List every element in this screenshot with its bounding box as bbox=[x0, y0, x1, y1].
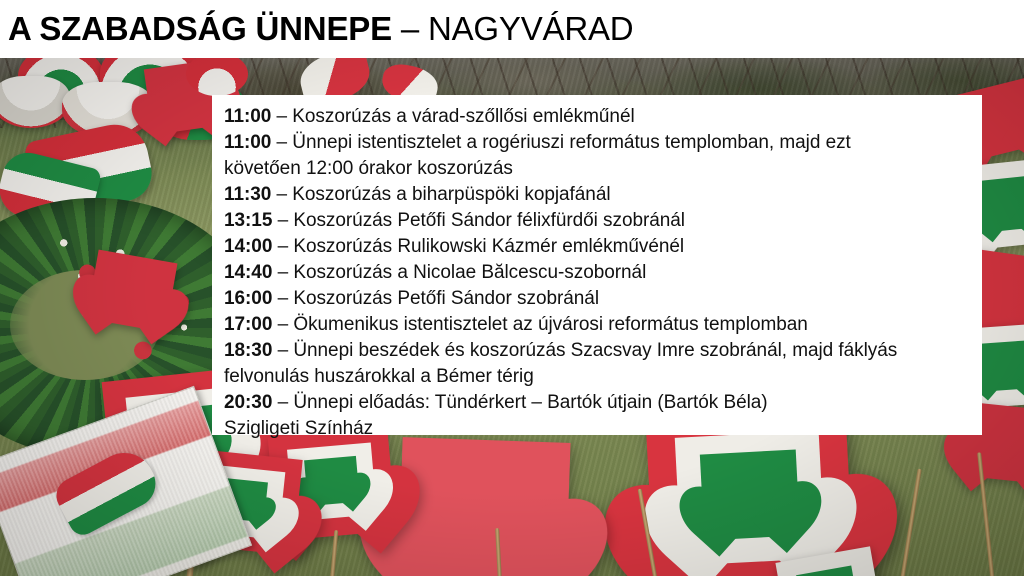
program-text: követően 12:00 órakor koszorúzás bbox=[224, 158, 513, 179]
program-text: Koszorúzás a Nicolae Bălcescu-szobornál bbox=[293, 262, 646, 283]
program-line-continuation: követően 12:00 órakor koszorúzás bbox=[224, 156, 968, 182]
program-text: felvonulás huszárokkal a Bémer térig bbox=[224, 366, 534, 387]
program-line: 17:00 – Ökumenikus istentisztelet az újv… bbox=[224, 312, 968, 338]
program-dash: – bbox=[271, 106, 292, 127]
program-time: 11:30 bbox=[224, 184, 271, 205]
program-text: Koszorúzás Petőfi Sándor szobránál bbox=[293, 288, 599, 309]
program-dash: – bbox=[272, 314, 293, 335]
program-time: 14:00 bbox=[224, 236, 272, 257]
program-dash: – bbox=[272, 340, 293, 361]
program-line: 11:00 – Koszorúzás a várad-szőllősi emlé… bbox=[224, 104, 968, 130]
program-text: Ünnepi beszédek és koszorúzás Szacsvay I… bbox=[293, 340, 897, 361]
program-line: 14:40 – Koszorúzás a Nicolae Bălcescu-sz… bbox=[224, 260, 968, 286]
program-line-continuation: Szigligeti Színház bbox=[224, 416, 968, 442]
program-dash: – bbox=[272, 288, 293, 309]
program-text: Koszorúzás a várad-szőllősi emlékműnél bbox=[292, 106, 634, 127]
program-time: 18:30 bbox=[224, 340, 272, 361]
program-line: 11:30 – Koszorúzás a biharpüspöki kopjaf… bbox=[224, 182, 968, 208]
program-line: 16:00 – Koszorúzás Petőfi Sándor szobrán… bbox=[224, 286, 968, 312]
program-line: 11:00 – Ünnepi istentisztelet a rogérius… bbox=[224, 130, 968, 156]
program-line-continuation: felvonulás huszárokkal a Bémer térig bbox=[224, 364, 968, 390]
program-dash: – bbox=[271, 132, 292, 153]
header-band: A SZABADSÁG ÜNNEPE – NAGYVÁRAD bbox=[0, 0, 1024, 58]
program-dash: – bbox=[271, 184, 292, 205]
title-light-part: NAGYVÁRAD bbox=[428, 10, 633, 47]
program-dash: – bbox=[272, 236, 293, 257]
program-line-list: 11:00 – Koszorúzás a várad-szőllősi emlé… bbox=[224, 104, 968, 442]
program-time: 13:15 bbox=[224, 210, 272, 231]
program-text: Ünnepi istentisztelet a rogériuszi refor… bbox=[292, 132, 851, 153]
program-line: 18:30 – Ünnepi beszédek és koszorúzás Sz… bbox=[224, 338, 968, 364]
title-dash: – bbox=[392, 10, 428, 47]
page-title: A SZABADSÁG ÜNNEPE – NAGYVÁRAD bbox=[0, 10, 633, 48]
program-line: 20:30 – Ünnepi előadás: Tündérkert – Bar… bbox=[224, 390, 968, 416]
program-dash: – bbox=[272, 262, 293, 283]
program-time: 11:00 bbox=[224, 132, 271, 153]
program-panel: 11:00 – Koszorúzás a várad-szőllősi emlé… bbox=[212, 95, 982, 435]
program-time: 17:00 bbox=[224, 314, 272, 335]
program-time: 16:00 bbox=[224, 288, 272, 309]
program-line: 13:15 – Koszorúzás Petőfi Sándor félixfü… bbox=[224, 208, 968, 234]
program-text: Koszorúzás a biharpüspöki kopjafánál bbox=[292, 184, 610, 205]
title-bold-part: A SZABADSÁG ÜNNEPE bbox=[8, 10, 392, 47]
slide-root: A SZABADSÁG ÜNNEPE – NAGYVÁRAD 11:00 – K… bbox=[0, 0, 1024, 576]
program-time: 14:40 bbox=[224, 262, 272, 283]
program-text: Koszorúzás Rulikowski Kázmér emlékművéné… bbox=[293, 236, 684, 257]
program-text: Ünnepi előadás: Tündérkert – Bartók útja… bbox=[293, 392, 767, 413]
program-dash: – bbox=[272, 210, 293, 231]
program-text: Ökumenikus istentisztelet az újvárosi re… bbox=[293, 314, 808, 335]
program-time: 20:30 bbox=[224, 392, 272, 413]
program-line: 14:00 – Koszorúzás Rulikowski Kázmér eml… bbox=[224, 234, 968, 260]
program-text: Koszorúzás Petőfi Sándor félixfürdői szo… bbox=[293, 210, 685, 231]
program-time: 11:00 bbox=[224, 106, 271, 127]
program-text: Szigligeti Színház bbox=[224, 418, 373, 439]
program-dash: – bbox=[272, 392, 293, 413]
